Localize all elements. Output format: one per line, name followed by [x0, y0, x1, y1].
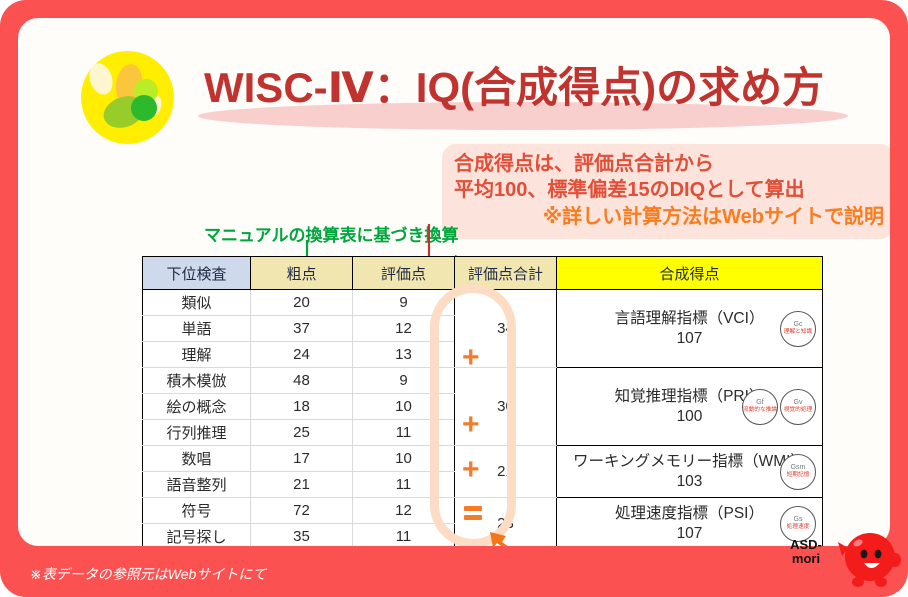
scaled-score: 11 — [353, 420, 455, 446]
plus-sign-3: + — [462, 455, 480, 485]
composite-cell-vci: 言語理解指標（VCI） 107 Gc 理解と知識 — [557, 290, 823, 368]
slide-root: WISC-Ⅳ：IQ(合成得点)の求め方 合成得点は、評価点合計から 平均100、… — [0, 0, 908, 597]
raw-score: 17 — [251, 446, 353, 472]
col-header-scaled-sum: 評価点合計 — [455, 257, 557, 290]
badge-label: 流動的な推論 — [743, 407, 777, 413]
composite-cell-pri: 知覚推理指標（PRI） 100 Gf 流動的な推論 Gv 視覚的処理 — [557, 368, 823, 446]
composite-cell-psi: 処理速度指標（PSI） 107 Gs 処理速度 — [557, 498, 823, 547]
total-pointer-arrow-icon — [488, 530, 532, 546]
subtest-name: 数唱 — [143, 446, 251, 472]
callout-line-2: 平均100、標準偏差15のDIQとして算出 — [454, 177, 884, 203]
subtest-name: 類似 — [143, 290, 251, 316]
table-row: 数唱 17 10 21 ワーキングメモリー指標（WMI） 103 Gsm 短期記… — [143, 446, 823, 472]
asd-mori-logo-icon — [81, 51, 174, 144]
raw-score: 25 — [251, 420, 353, 446]
callout-box: 合成得点は、評価点合計から 平均100、標準偏差15のDIQとして算出 ※詳しい… — [442, 144, 890, 239]
scaled-score: 11 — [353, 524, 455, 547]
scaled-score: 10 — [353, 394, 455, 420]
cattell-badge-gc: Gc 理解と知識 — [780, 311, 816, 347]
col-header-composite: 合成得点 — [557, 257, 823, 290]
subtest-name: 絵の概念 — [143, 394, 251, 420]
raw-score: 35 — [251, 524, 353, 547]
wisc-score-table: 下位検査 粗点 評価点 評価点合計 合成得点 類似 20 9 34 言語理解指標… — [142, 256, 823, 546]
raw-score: 24 — [251, 342, 353, 368]
scaled-score: 11 — [353, 472, 455, 498]
cattell-badge-gv: Gv 視覚的処理 — [780, 389, 816, 425]
composite-cell-wmi: ワーキングメモリー指標（WMI） 103 Gsm 短期記憶 — [557, 446, 823, 498]
table-row: 符号 72 12 23 処理速度指標（PSI） 107 Gs 処理速度 — [143, 498, 823, 524]
badge-label: 短期記憶 — [787, 472, 810, 478]
scaled-score: 12 — [353, 316, 455, 342]
subtest-name: 行列推理 — [143, 420, 251, 446]
raw-score: 21 — [251, 472, 353, 498]
badge-abbr: Gsm — [791, 464, 806, 471]
raw-score: 37 — [251, 316, 353, 342]
badge-abbr: Gv — [794, 399, 803, 406]
col-header-scaled: 評価点 — [353, 257, 455, 290]
mascot-label-line2: mori — [792, 551, 820, 566]
col-header-subtest: 下位検査 — [143, 257, 251, 290]
subtest-name: 記号探し — [143, 524, 251, 547]
badge-abbr: Gc — [794, 321, 803, 328]
plus-sign-2: + — [462, 410, 480, 440]
page-title: WISC-Ⅳ：IQ(合成得点)の求め方 — [204, 54, 884, 115]
scaled-score: 12 — [353, 498, 455, 524]
subtest-name: 語音整列 — [143, 472, 251, 498]
cattell-badge-gf: Gf 流動的な推論 — [742, 389, 778, 425]
cattell-badge-gsm: Gsm 短期記憶 — [780, 454, 816, 490]
col-header-raw: 粗点 — [251, 257, 353, 290]
scaled-score: 13 — [353, 342, 455, 368]
raw-score: 48 — [251, 368, 353, 394]
scaled-score: 9 — [353, 290, 455, 316]
callout-line-3: ※詳しい計算方法はWebサイトで説明 — [454, 204, 884, 230]
subtest-name: 積木模倣 — [143, 368, 251, 394]
mascot-label: ASD- mori — [784, 538, 828, 565]
plus-sign-1: + — [462, 343, 480, 373]
table-row: 積木模倣 48 9 30 知覚推理指標（PRI） 100 Gf 流動的な推論 G… — [143, 368, 823, 394]
subtest-name: 単語 — [143, 316, 251, 342]
table-header-row: 下位検査 粗点 評価点 評価点合計 合成得点 — [143, 257, 823, 290]
subtest-name: 符号 — [143, 498, 251, 524]
badge-label: 視覚的処理 — [784, 407, 813, 413]
raw-score: 20 — [251, 290, 353, 316]
badge-abbr: Gs — [794, 516, 803, 523]
raw-score: 18 — [251, 394, 353, 420]
scaled-score: 10 — [353, 446, 455, 472]
mascot-icon — [836, 530, 902, 592]
scaled-score: 9 — [353, 368, 455, 394]
equals-sign — [464, 506, 482, 524]
badge-label: 処理速度 — [787, 524, 810, 530]
callout-line-1: 合成得点は、評価点合計から — [454, 151, 884, 177]
source-note: ※表データの参照元はWebサイトにて — [30, 564, 266, 584]
subtest-name: 理解 — [143, 342, 251, 368]
slide-card: WISC-Ⅳ：IQ(合成得点)の求め方 合成得点は、評価点合計から 平均100、… — [18, 18, 890, 546]
badge-abbr: Gf — [756, 399, 763, 406]
badge-label: 理解と知識 — [784, 329, 813, 335]
raw-score: 72 — [251, 498, 353, 524]
table-row: 類似 20 9 34 言語理解指標（VCI） 107 Gc 理解と知識 — [143, 290, 823, 316]
